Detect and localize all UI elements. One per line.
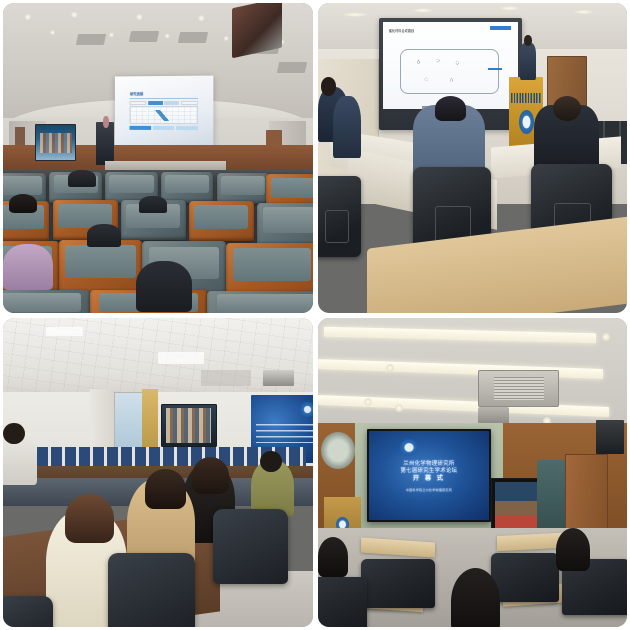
photo-bottom-left[interactable] — [3, 318, 313, 628]
attendee-head — [553, 96, 581, 121]
attendee-head — [3, 423, 25, 445]
audience-person — [136, 261, 192, 312]
slide-chip — [130, 100, 147, 104]
lectern — [96, 122, 115, 165]
presenter-figure — [520, 43, 535, 80]
ceiling-light — [158, 352, 204, 364]
auditorium-seat — [3, 290, 90, 313]
projection-screen: 兰州化学物理研究所 第七届研究生学术论坛 开 幕 式 中国科学院兰州化学物理研究… — [369, 431, 489, 520]
auditorium-seat — [59, 240, 143, 294]
downlight — [386, 364, 394, 372]
wall-speaker — [596, 420, 624, 454]
ceiling-air-conditioner — [478, 370, 558, 407]
video-conference-monitor — [35, 124, 75, 161]
ceiling-light — [46, 327, 83, 336]
projection-line-3: 开 幕 式 — [381, 475, 477, 483]
slide-title: 研究进展 — [130, 91, 198, 96]
attendee-head — [321, 77, 336, 96]
student-head — [318, 537, 349, 577]
office-chair — [213, 509, 287, 583]
slide-chip — [176, 126, 198, 130]
slide-chip-row — [130, 100, 198, 104]
lecture-chair — [361, 559, 435, 609]
institution-logo-icon — [300, 402, 313, 417]
projection-line-4: 中国科学院兰州化学物理研究所 — [381, 489, 477, 493]
lectern-nameplate — [511, 93, 541, 103]
audience-person — [3, 244, 53, 290]
attendee-figure — [333, 96, 361, 158]
projection-screen: 研究进展 — [115, 75, 214, 147]
auditorium-seat — [161, 172, 214, 203]
lecture-chair — [318, 577, 368, 627]
slide-chart — [130, 106, 198, 124]
downlight — [364, 398, 372, 406]
auditorium-seat — [207, 291, 312, 312]
slide-chip — [153, 126, 175, 130]
office-chair — [3, 596, 53, 627]
auditorium-seat — [189, 201, 254, 241]
slide-chip — [148, 100, 163, 104]
projection-line-2: 第七届研究生学术论坛 — [381, 468, 477, 475]
projection-screen-frame: 兰州化学物理研究所 第七届研究生学术论坛 开 幕 式 中国科学院兰州化学物理研究… — [367, 429, 491, 522]
ceiling-vent — [178, 32, 208, 43]
institution-logo-icon — [519, 110, 534, 134]
attendee-head — [192, 457, 229, 494]
slide-accent-tag — [490, 26, 511, 30]
ceiling-vent — [277, 62, 307, 73]
student-head — [556, 528, 590, 571]
photo-top-left[interactable]: 研究进展 — [3, 3, 313, 313]
slide-chip — [130, 126, 151, 130]
photo-bottom-right[interactable]: 兰州化学物理研究所 第七届研究生学术论坛 开 幕 式 中国科学院兰州化学物理研究… — [318, 318, 628, 628]
ceiling-vent — [129, 31, 159, 42]
slide-chip — [181, 100, 198, 104]
slide-divider — [130, 98, 198, 99]
photo-top-right[interactable]: 催化材料合成路线 — [318, 3, 628, 313]
projection-title-block: 兰州化学物理研究所 第七届研究生学术论坛 开 幕 式 中国科学院兰州化学物理研究… — [381, 461, 477, 493]
institution-logo-icon — [400, 439, 418, 456]
photo-collage: 研究进展 — [0, 0, 630, 630]
projection-line-1: 兰州化学物理研究所 — [381, 461, 477, 468]
slide-chart-trendline — [135, 110, 190, 121]
office-chair — [108, 553, 195, 627]
ceiling-vent — [76, 34, 106, 45]
speaker-figure — [103, 116, 109, 128]
audience-person — [139, 196, 167, 213]
ceiling-panel — [201, 370, 251, 385]
institution-seal-icon — [321, 432, 355, 469]
audience-seating-area — [3, 170, 313, 312]
auditorium-seat — [226, 243, 313, 297]
foreground-table — [367, 215, 627, 312]
slide-arrow — [488, 68, 501, 71]
attendee-head — [435, 96, 466, 121]
presenter-head — [524, 35, 531, 46]
office-chair — [318, 176, 361, 256]
auditorium-seat — [217, 173, 270, 204]
auditorium-seat — [257, 203, 313, 246]
video-conference-tv — [161, 404, 217, 447]
secondary-door — [537, 460, 565, 531]
molecular-structure-diagram — [400, 49, 499, 94]
audience-person — [87, 224, 121, 247]
attendee-head — [260, 451, 282, 473]
attendee-head — [65, 494, 115, 544]
audience-person — [9, 194, 37, 213]
room-door — [565, 454, 608, 534]
lecture-chair — [491, 553, 559, 603]
attendee-head — [145, 469, 185, 509]
slide-chip — [165, 100, 180, 104]
projection-text-lines — [256, 422, 312, 442]
audience-person — [68, 170, 96, 187]
student-head — [451, 568, 501, 627]
ceiling-projector — [263, 370, 294, 385]
